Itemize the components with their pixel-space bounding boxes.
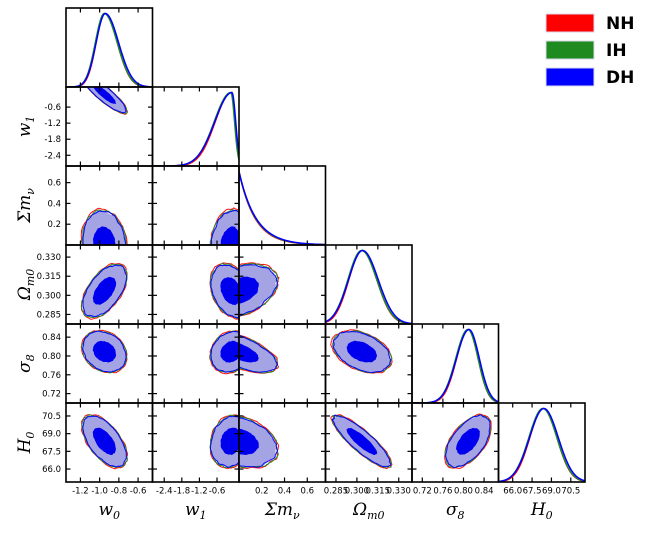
- x-tick-label: -1.2: [191, 487, 208, 497]
- legend-swatch-DH: [546, 68, 594, 86]
- x-tick-label: 0.6: [301, 487, 315, 497]
- legend-label-IH: IH: [606, 41, 627, 61]
- x-tick-label: 0.72: [413, 487, 432, 497]
- x-tick-label: 67.5: [523, 487, 542, 497]
- legend-label-NH: NH: [606, 14, 634, 34]
- y-tick-label: 0.330: [37, 253, 61, 263]
- y-tick-label: -0.6: [44, 103, 61, 113]
- x-tick-label: 69.0: [542, 487, 561, 497]
- x-tick-label: -0.6: [130, 487, 147, 497]
- y-tick-label: 0.315: [37, 272, 61, 282]
- legend: NHIHDH: [546, 14, 634, 88]
- x-tick-label: -0.8: [111, 487, 128, 497]
- x-tick-label: -0.6: [209, 487, 226, 497]
- legend-swatch-IH: [546, 41, 594, 59]
- y-tick-label: 69.0: [42, 430, 61, 440]
- legend-swatch-NH: [546, 14, 594, 32]
- y-tick-label: 70.5: [42, 412, 61, 422]
- corner-plot-figure: -1.2-1.0-0.8-0.6-2.4-1.8-1.2-0.60.20.40.…: [0, 0, 655, 545]
- y-tick-label: 0.80: [42, 352, 61, 362]
- y-tick-label: 0.6: [47, 179, 61, 189]
- x-tick-label: 0.330: [387, 487, 411, 497]
- x-tick-label: -1.2: [72, 487, 89, 497]
- x-tick-label: 0.84: [475, 487, 494, 497]
- legend-label-DH: DH: [606, 68, 634, 88]
- x-tick-label: 66.0: [503, 487, 522, 497]
- y-tick-label: -2.4: [44, 151, 61, 161]
- y-tick-label: -1.2: [44, 119, 61, 129]
- x-tick-label: 70.5: [561, 487, 580, 497]
- x-tick-label: 0.4: [278, 487, 292, 497]
- y-tick-label: 0.72: [42, 390, 61, 400]
- x-tick-label: -1.0: [91, 487, 108, 497]
- y-tick-label: 0.300: [37, 291, 61, 301]
- y-tick-label: 0.2: [47, 220, 61, 230]
- y-tick-label: 66.0: [42, 465, 61, 475]
- x-tick-label: -2.4: [156, 487, 173, 497]
- corner-plot-svg: -1.2-1.0-0.8-0.6-2.4-1.8-1.2-0.60.20.40.…: [0, 0, 655, 545]
- y-tick-label: 67.5: [42, 447, 61, 457]
- y-tick-label: 0.4: [47, 199, 61, 209]
- x-tick-label: 0.80: [454, 487, 473, 497]
- y-tick-label: 0.76: [42, 371, 61, 381]
- y-tick-label: 0.285: [37, 310, 61, 320]
- x-tick-label: -1.8: [174, 487, 191, 497]
- y-tick-label: 0.84: [42, 333, 61, 343]
- x-tick-label: 0.76: [433, 487, 452, 497]
- y-tick-label: -1.8: [44, 135, 61, 145]
- x-tick-label: 0.2: [255, 487, 269, 497]
